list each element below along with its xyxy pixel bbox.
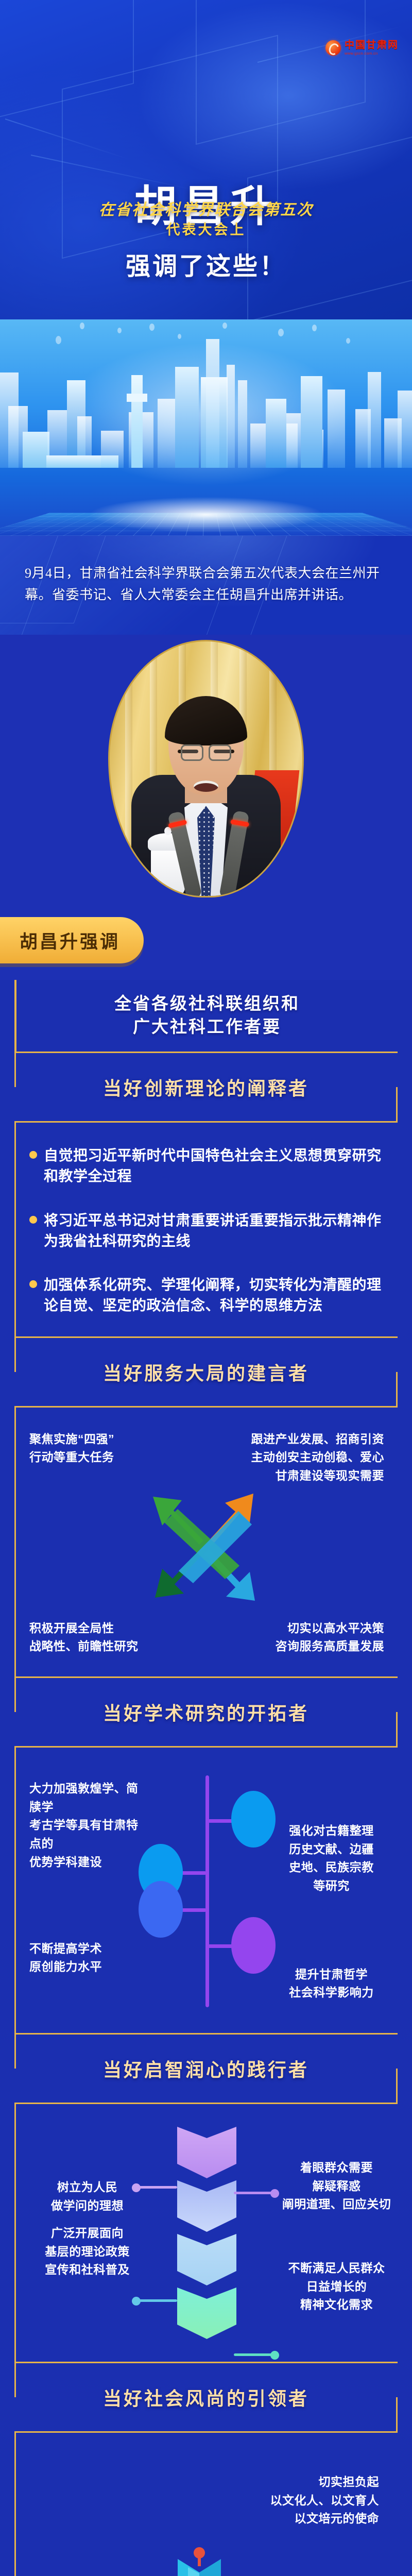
section-body-4: 树立为人民做学问的理想 广泛开展面向基层的理论政策宣传和社科普及 着眼群众需要解… <box>14 2104 398 2362</box>
bullet-text: 自觉把习近平新时代中国特色社会主义思想贯穿研究和教学全过程 <box>44 1145 384 1187</box>
hero-deco-panel <box>196 0 366 145</box>
bullet-item: 自觉把习近平新时代中国特色社会主义思想贯穿研究和教学全过程 <box>29 1145 384 1187</box>
intro-section: 9月4日，甘肃省社会科学界联合会第五次代表大会在兰州开幕。省委书记、省人大常委会… <box>0 536 412 635</box>
bullet-dot-icon <box>29 1280 37 1288</box>
section3-text-left-1: 大力加强敦煌学、简牍学考古学等具有甘肃特点的优势学科建设 <box>29 1780 145 1871</box>
section-title-box-2: 当好服务大局的建言者 <box>14 1336 398 1408</box>
floor-light-flare <box>88 497 324 533</box>
section-title-box-1: 当好创新理论的阐释者 <box>14 1052 398 1123</box>
section4-text-right-1: 着眼群众需要解疑释惑阐明道理、回应关切 <box>279 2159 394 2214</box>
section-title-box-4: 当好启智润心的践行者 <box>14 2033 398 2104</box>
lead-line-2: 广大社科工作者要 <box>27 1015 387 1039</box>
bullet-item: 将习近平总书记对甘肃重要讲话重要指示批示精神作为我省社科研究的主线 <box>29 1210 384 1251</box>
section2-text-bottom-right: 切实以高水平决策咨询服务高质量发展 <box>268 1619 384 1656</box>
down-chevron-flow-icon <box>177 2127 236 2341</box>
speaker-photo <box>108 640 304 897</box>
section2-text-top-right: 跟进产业发展、招商引资主动创安主动创稳、爱心甘肃建设等现实需要 <box>245 1430 384 1485</box>
emphasis-badge-label: 胡昌升强调 <box>20 927 120 954</box>
hero-emphasis: 强调了这些！ <box>0 246 412 282</box>
gscn-flame-icon <box>325 40 341 56</box>
emphasis-badge: 胡昌升强调 <box>0 917 144 963</box>
section-title-box-3: 当好学术研究的开拓者 <box>14 1676 398 1748</box>
section3-text-right-1: 强化对古籍整理历史文献、边疆史地、民族宗教等研究 <box>273 1822 389 1895</box>
bullet-text: 加强体系化研究、学理化阐释，切实转化为清醒的理论自觉、坚定的政治信念、科学的思维… <box>44 1275 384 1316</box>
section-body-2: 聚焦实施“四强”行动等重大任务 跟进产业发展、招商引资主动创安主动创稳、爱心甘肃… <box>14 1408 398 1676</box>
brand-url: www.gscn.com.cn <box>345 52 399 56</box>
brand-name: 中国甘肃网 <box>345 40 399 50</box>
section-title-2: 当好服务大局的建言者 <box>20 1359 392 1385</box>
eyeglasses-icon <box>181 744 231 761</box>
section-title-3: 当好学术研究的开拓者 <box>20 1699 392 1725</box>
section3-text-right-2: 提升甘肃哲学社会科学影响力 <box>273 1965 389 2002</box>
bullet-item: 加强体系化研究、学理化阐释，切实转化为清醒的理论自觉、坚定的政治信念、科学的思维… <box>29 1275 384 1316</box>
brand-logo: 中国甘肃网 www.gscn.com.cn <box>325 40 399 56</box>
section-title-1: 当好创新理论的阐释者 <box>20 1074 392 1100</box>
section4-text-left-2: 广泛开展面向基层的理论政策宣传和社科普及 <box>29 2224 145 2279</box>
section3-text-left-2: 不断提高学术原创能力水平 <box>29 1940 145 1976</box>
bullet-dot-icon <box>29 1151 37 1159</box>
section5-text-right-1: 切实担负起以文化人、以文育人以文培元的使命 <box>29 2455 384 2544</box>
hero-banner: 中国甘肃网 www.gscn.com.cn 胡昌升 在省社会科学界联合会第五次 … <box>0 0 412 319</box>
bullet-dot-icon <box>29 1216 37 1224</box>
section2-text-bottom-left: 积极开展全局性战略性、前瞻性研究 <box>29 1619 145 1656</box>
emphasis-pill-row: 胡昌升强调 <box>0 903 412 980</box>
hero-subtitle-line2: 代表大会上 <box>0 218 412 239</box>
city-skyline-illustration <box>0 319 412 536</box>
section-title-box-5: 当好社会风尚的引领者 <box>14 2362 398 2433</box>
section2-text-top-left: 聚焦实施“四强”行动等重大任务 <box>29 1430 145 1467</box>
section4-text-left-1: 树立为人民做学问的理想 <box>29 2178 145 2215</box>
branching-nodes-icon <box>158 1770 256 2012</box>
infographic-poster: 中国甘肃网 www.gscn.com.cn 胡昌升 在省社会科学界联合会第五次 … <box>0 0 412 2576</box>
section-title-5: 当好社会风尚的引领者 <box>20 2384 392 2411</box>
bullet-text: 将习近平总书记对甘肃重要讲话重要指示批示精神作为我省社科研究的主线 <box>44 1210 384 1251</box>
section-title-4: 当好启智润心的践行者 <box>20 2055 392 2082</box>
section-body-3: 大力加强敦煌学、简牍学考古学等具有甘肃特点的优势学科建设 不断提高学术原创能力水… <box>14 1748 398 2033</box>
four-arrows-cross-icon <box>148 1488 266 1617</box>
converging-hub-icon <box>148 2544 266 2576</box>
lead-line-1: 全省各级社科联组织和 <box>27 992 387 1015</box>
lead-statement: 全省各级社科联组织和 广大社科工作者要 <box>14 980 398 1052</box>
intro-paragraph: 9月4日，甘肃省社会科学界联合会第五次代表大会在兰州开幕。省委书记、省人大常委会… <box>25 563 387 606</box>
hero-subtitle-line1: 在省社会科学界联合会第五次 <box>0 197 412 219</box>
section-body-5: 切实担负起以文化人、以文育人以文培元的使命 把做大学问做真学问作为孜孜以求的毕生… <box>14 2433 398 2576</box>
section4-text-right-2: 不断满足人民群众日益增长的精神文化需求 <box>279 2259 394 2314</box>
section-body-1: 自觉把习近平新时代中国特色社会主义思想贯穿研究和教学全过程 将习近平总书记对甘肃… <box>14 1123 398 1336</box>
portrait-section <box>0 635 412 903</box>
